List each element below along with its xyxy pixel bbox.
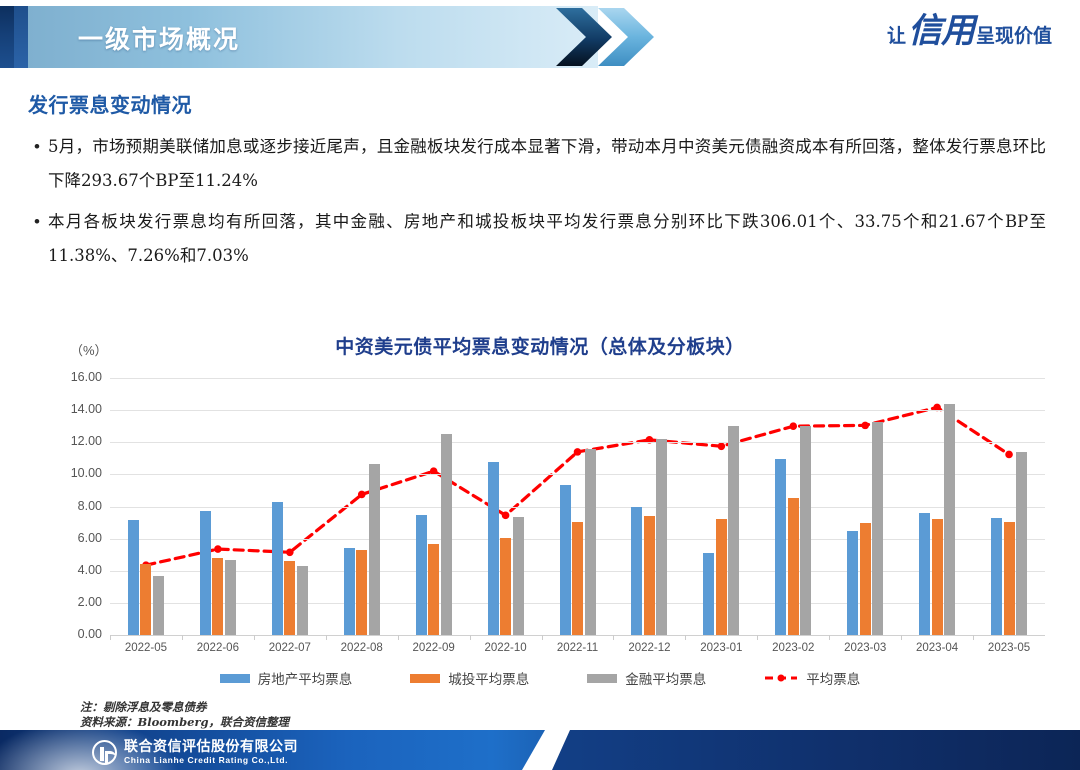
footer-company-text: 联合资信评估股份有限公司 China Lianhe Credit Rating … — [124, 739, 298, 766]
chevron-right-icon-light — [598, 8, 660, 66]
legend-item-平均票息[interactable]: 平均票息 — [764, 668, 860, 688]
grid-line — [110, 410, 1045, 411]
bar-房地产平均票息 — [128, 520, 139, 635]
x-axis-tick-mark — [829, 635, 830, 640]
bar-房地产平均票息 — [847, 531, 858, 635]
bar-金融平均票息 — [297, 566, 308, 635]
note-line-2: 资料来源：Bloomberg，联合资信整理 — [80, 715, 289, 730]
slide: 一级市场概况 让 — [0, 0, 1080, 770]
line-data-point — [718, 442, 726, 450]
bar-金融平均票息 — [441, 434, 452, 635]
bullet-text: 本月各板块发行票息均有所回落，其中金融、房地产和城投板块平均发行票息分别环比下跌… — [48, 205, 1046, 273]
y-axis-tick-labels: 0.002.004.006.008.0010.0012.0014.0016.00 — [40, 378, 102, 635]
legend-label: 金融平均票息 — [625, 668, 706, 688]
bar-房地产平均票息 — [703, 553, 714, 635]
x-axis-tick-mark — [613, 635, 614, 640]
x-axis-tick-mark — [757, 635, 758, 640]
bar-金融平均票息 — [1016, 452, 1027, 635]
bullet-marker-icon: • — [26, 205, 48, 273]
legend-label: 房地产平均票息 — [258, 668, 353, 688]
header-accent-bar-dark — [0, 6, 14, 68]
header-accent-bar-blue — [14, 6, 28, 68]
bar-房地产平均票息 — [775, 459, 786, 635]
y-axis-tick: 8.00 — [40, 499, 102, 513]
grid-line — [110, 474, 1045, 475]
bar-城投平均票息 — [572, 522, 583, 635]
grid-line — [110, 378, 1045, 379]
bar-房地产平均票息 — [991, 518, 1002, 635]
x-axis-tick: 2023-04 — [916, 642, 958, 654]
bar-城投平均票息 — [356, 550, 367, 635]
bar-城投平均票息 — [140, 564, 151, 635]
bar-城投平均票息 — [212, 558, 223, 635]
bar-城投平均票息 — [428, 544, 439, 635]
x-axis-tick-mark — [470, 635, 471, 640]
bar-城投平均票息 — [788, 498, 799, 635]
x-axis-tick-mark — [110, 635, 111, 640]
y-axis-tick: 12.00 — [40, 434, 102, 448]
y-axis-tick: 10.00 — [40, 466, 102, 480]
legend-swatch-icon — [410, 674, 440, 683]
bar-房地产平均票息 — [560, 485, 571, 635]
legend-label: 平均票息 — [806, 668, 860, 688]
brand-main: 信用 — [908, 16, 974, 47]
y-axis-tick: 4.00 — [40, 563, 102, 577]
x-axis-tick: 2023-03 — [844, 642, 886, 654]
bar-城投平均票息 — [500, 538, 511, 635]
bar-金融平均票息 — [153, 576, 164, 635]
legend-line-icon — [764, 672, 798, 684]
legend-item-城投平均票息[interactable]: 城投平均票息 — [410, 668, 529, 688]
bar-金融平均票息 — [728, 426, 739, 635]
x-axis-tick: 2023-01 — [700, 642, 742, 654]
bar-金融平均票息 — [944, 404, 955, 635]
y-axis-tick: 16.00 — [40, 370, 102, 384]
line-data-point — [574, 448, 582, 456]
bullet-text: 5月，市场预期美联储加息或逐步接近尾声，且金融板块发行成本显著下滑，带动本月中资… — [48, 130, 1046, 198]
chart-notes: 注：剔除浮息及零息债券 资料来源：Bloomberg，联合资信整理 — [80, 700, 289, 730]
legend-swatch-icon — [220, 674, 250, 683]
bar-城投平均票息 — [284, 561, 295, 635]
bar-金融平均票息 — [225, 560, 236, 635]
x-axis-tick: 2022-09 — [413, 642, 455, 654]
brand-suffix: 呈现价值 — [976, 21, 1052, 48]
bar-城投平均票息 — [1004, 522, 1015, 635]
bar-房地产平均票息 — [200, 511, 211, 635]
grid-line — [110, 442, 1045, 443]
bar-金融平均票息 — [656, 439, 667, 635]
footer-right-band — [552, 730, 1080, 770]
x-axis-tick: 2023-05 — [988, 642, 1030, 654]
bullet-marker-icon: • — [26, 130, 48, 198]
x-axis-tick-mark — [254, 635, 255, 640]
bar-金融平均票息 — [585, 449, 596, 635]
grid-line — [110, 507, 1045, 508]
section-title: 发行票息变动情况 — [28, 89, 192, 118]
x-axis-tick: 2022-11 — [557, 642, 598, 654]
bar-城投平均票息 — [716, 519, 727, 635]
legend-swatch-icon — [587, 674, 617, 683]
x-axis-tick: 2022-05 — [125, 642, 167, 654]
x-axis-tick: 2022-10 — [484, 642, 526, 654]
brand-prefix: 让 — [887, 21, 906, 48]
bar-金融平均票息 — [513, 517, 524, 635]
bar-房地产平均票息 — [631, 507, 642, 636]
y-axis-tick: 0.00 — [40, 627, 102, 641]
x-axis-tick-mark — [398, 635, 399, 640]
bar-房地产平均票息 — [488, 462, 499, 635]
bar-房地产平均票息 — [919, 513, 930, 635]
y-axis-unit-label: （%） — [70, 340, 108, 359]
list-item: • 5月，市场预期美联储加息或逐步接近尾声，且金融板块发行成本显著下滑，带动本月… — [26, 130, 1046, 198]
line-data-point — [358, 491, 366, 499]
y-axis-tick: 2.00 — [40, 595, 102, 609]
legend-item-金融平均票息[interactable]: 金融平均票息 — [587, 668, 706, 688]
bar-房地产平均票息 — [416, 515, 427, 635]
page-title: 一级市场概况 — [78, 20, 240, 56]
footer-company-logo: 联合资信评估股份有限公司 China Lianhe Credit Rating … — [92, 739, 298, 766]
footer-company-cn: 联合资信评估股份有限公司 — [124, 739, 298, 754]
lianhe-emblem-icon — [92, 740, 117, 765]
x-axis-tick-mark — [542, 635, 543, 640]
x-axis-tick: 2023-02 — [772, 642, 814, 654]
x-axis-tick: 2022-07 — [269, 642, 311, 654]
chart: 中资美元债平均票息变动情况（总体及分板块） （%） 0.002.004.006.… — [0, 320, 1080, 710]
legend-item-房地产平均票息[interactable]: 房地产平均票息 — [220, 668, 353, 688]
bar-房地产平均票息 — [272, 502, 283, 635]
bar-房地产平均票息 — [344, 548, 355, 635]
x-axis-tick-mark — [973, 635, 974, 640]
x-axis-tick-mark — [901, 635, 902, 640]
y-axis-tick: 6.00 — [40, 531, 102, 545]
x-axis-tick-labels: 2022-052022-062022-072022-082022-092022-… — [110, 642, 1045, 664]
bar-金融平均票息 — [800, 426, 811, 635]
line-data-point — [286, 548, 294, 556]
bar-城投平均票息 — [932, 519, 943, 635]
note-line-1: 注：剔除浮息及零息债券 — [80, 700, 289, 715]
chart-legend: 房地产平均票息城投平均票息金融平均票息平均票息 — [0, 668, 1080, 688]
bar-城投平均票息 — [644, 516, 655, 635]
bar-金融平均票息 — [872, 422, 883, 635]
list-item: • 本月各板块发行票息均有所回落，其中金融、房地产和城投板块平均发行票息分别环比… — [26, 205, 1046, 273]
line-data-point — [861, 422, 869, 430]
x-axis-tick-mark — [685, 635, 686, 640]
x-axis-tick: 2022-06 — [197, 642, 239, 654]
brand-logo: 让 信用 呈现价值 — [887, 16, 1052, 48]
bullet-list: • 5月，市场预期美联储加息或逐步接近尾声，且金融板块发行成本显著下滑，带动本月… — [26, 130, 1046, 280]
plot-area — [110, 378, 1045, 635]
line-data-point — [502, 512, 510, 520]
chart-title: 中资美元债平均票息变动情况（总体及分板块） — [0, 332, 1080, 359]
x-axis-tick: 2022-08 — [341, 642, 383, 654]
line-data-point — [789, 422, 797, 430]
slide-header: 一级市场概况 让 — [0, 0, 1080, 72]
bar-城投平均票息 — [860, 523, 871, 635]
y-axis-tick: 14.00 — [40, 402, 102, 416]
line-data-point — [214, 545, 222, 553]
x-axis-tick-mark — [182, 635, 183, 640]
x-axis-tick-mark — [326, 635, 327, 640]
legend-label: 城投平均票息 — [448, 668, 529, 688]
x-axis-tick: 2022-12 — [628, 642, 670, 654]
line-data-point — [1005, 451, 1013, 459]
footer-company-en: China Lianhe Credit Rating Co.,Ltd. — [124, 754, 298, 766]
slide-footer: 联合资信评估股份有限公司 China Lianhe Credit Rating … — [0, 730, 1080, 770]
bar-金融平均票息 — [369, 464, 380, 635]
grid-line — [110, 635, 1045, 636]
